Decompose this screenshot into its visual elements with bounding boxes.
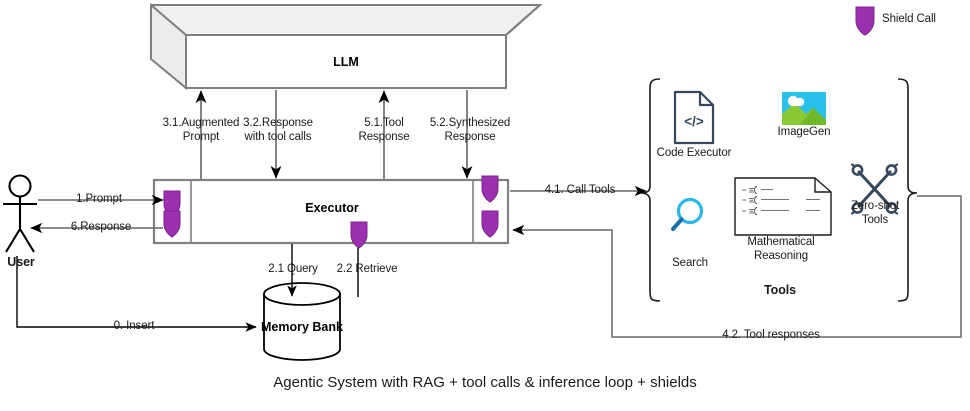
edge-insert (17, 256, 256, 327)
shield-icon-tools-in (482, 211, 498, 237)
tool-label-zero-shot: Zero-shot Tools (840, 200, 910, 227)
magnifier-icon (673, 200, 702, 230)
diagram-caption: Agentic System with RAG + tool calls & i… (0, 374, 970, 391)
edge-label-response-with-tool-calls: 3.2.Response with tool calls (228, 117, 328, 144)
tool-label-imagegen: ImageGen (764, 126, 844, 140)
tools-group-label: Tools (740, 284, 820, 298)
shield-icon-tools-out (482, 176, 498, 202)
shield-icon-executor-out (164, 211, 180, 237)
tool-label-code-executor: Code Executor (644, 147, 744, 161)
llm-box (151, 5, 540, 88)
shield-icon-memory (351, 222, 367, 248)
edge-label-query: 2.1 Query (258, 263, 328, 277)
edge-label-retrieve: 2.2 Retrieve (326, 263, 408, 277)
edge-label-response: 6.Response (55, 221, 147, 235)
tools-left-bracket (641, 79, 660, 301)
edge-label-synthesized-response: 5.2.Synthesized Response (420, 117, 520, 144)
edge-label-call-tools: 4.1. Call Tools (537, 184, 623, 198)
executor-label: Executor (292, 201, 372, 215)
svg-text:</>: </> (684, 114, 704, 129)
image-icon (782, 92, 826, 125)
memory-bank-label: Memory Bank (252, 320, 352, 334)
edge-label-tool-responses: 4.2. Tool responses (716, 329, 826, 343)
edge-label-insert: 0. Insert (96, 320, 172, 334)
shield-icon-executor-in (164, 191, 180, 217)
edge-label-prompt: 1.Prompt (58, 193, 140, 207)
diagram-vector-layer: </> (0, 0, 970, 411)
math-document-icon (735, 178, 831, 235)
shield-icon-legend (856, 7, 874, 35)
tool-label-search: Search (660, 257, 720, 271)
tools-right-bracket (898, 79, 917, 301)
diagram-canvas: </> (0, 0, 970, 411)
user-label: User (0, 256, 42, 270)
tool-label-math: Mathematical Reasoning (731, 236, 831, 263)
legend-label: Shield Call (882, 13, 962, 27)
llm-label: LLM (306, 55, 386, 69)
code-file-icon: </> (675, 92, 713, 143)
user-figure (3, 176, 37, 253)
edge-label-tool-response: 5.1.Tool Response (340, 117, 428, 144)
